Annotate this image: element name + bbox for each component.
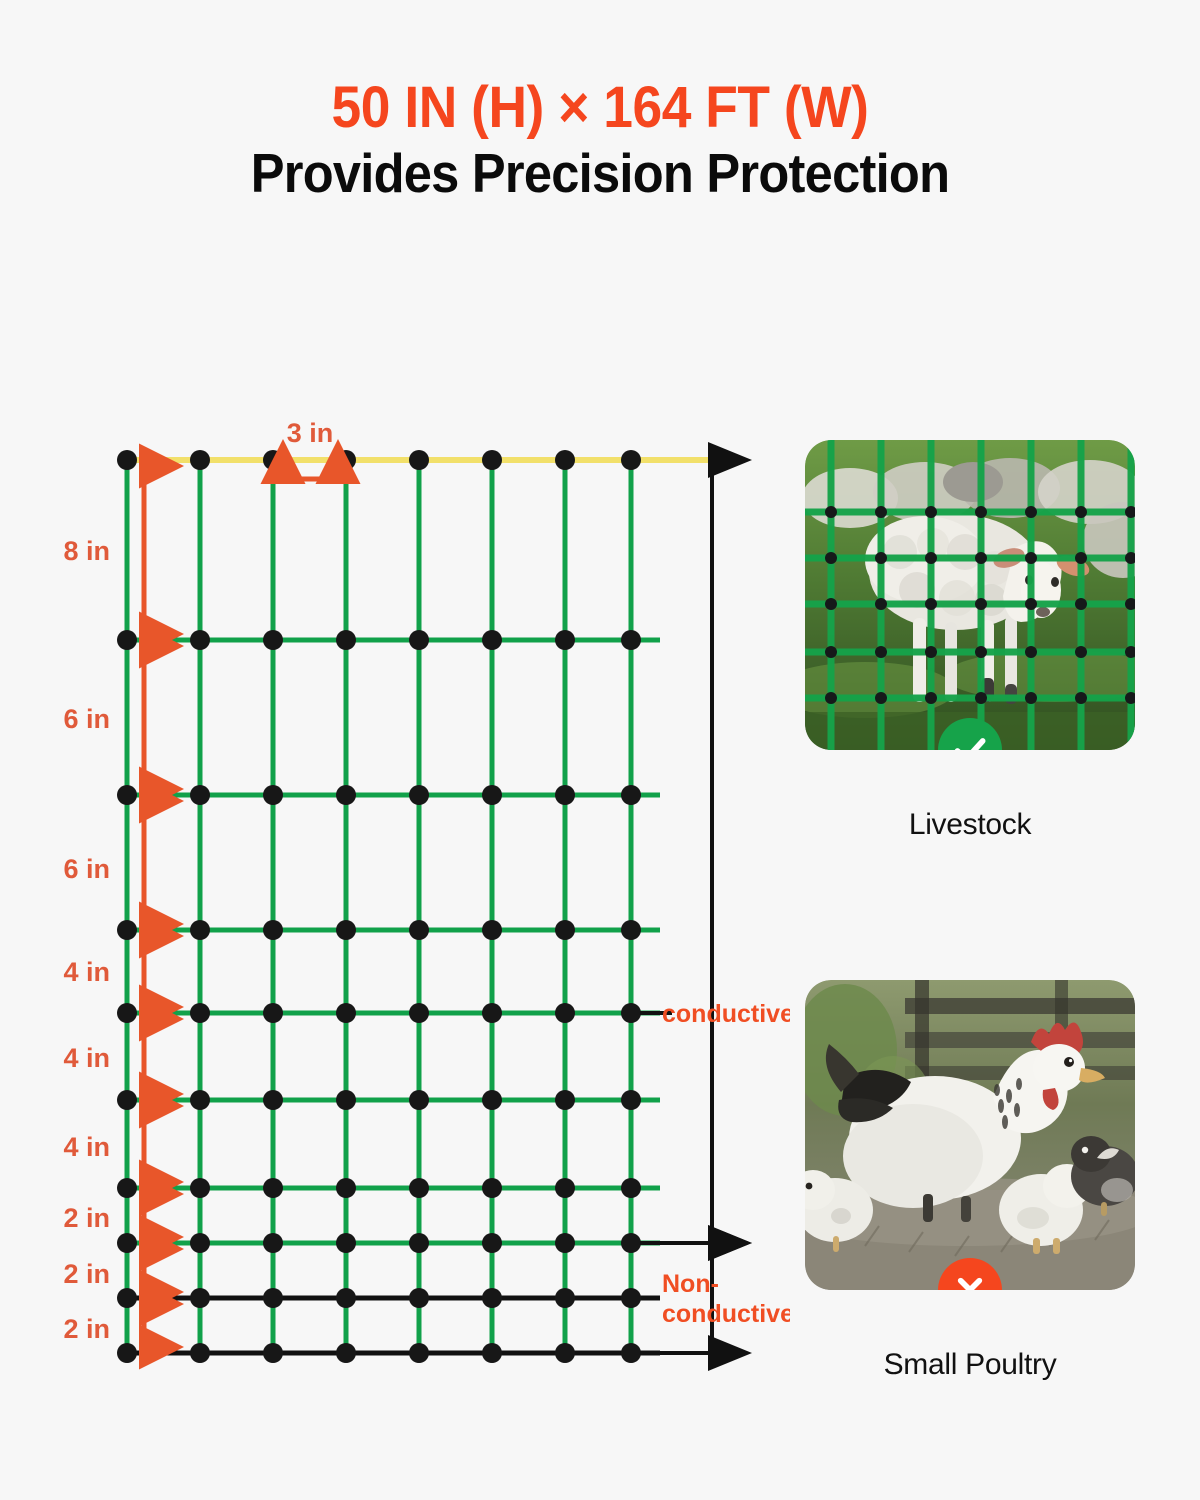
conductive-indicator: conductive <box>640 460 790 1243</box>
dim-label-3in: 3 in <box>287 418 334 448</box>
poultry-photo <box>805 980 1135 1290</box>
dim-label-4in-b: 4 in <box>63 1043 110 1073</box>
fence-spec-diagram: 3 in 8 in 6 in 6 in 4 in 4 in 4 in 2 in … <box>0 0 790 1500</box>
mesh-nodes <box>117 450 641 1363</box>
card-livestock[interactable]: Livestock <box>805 440 1135 842</box>
dim-label-4in-a: 4 in <box>63 957 110 987</box>
conductive-label: conductive <box>662 1000 790 1028</box>
check-icon <box>950 730 990 750</box>
card-poultry[interactable]: Small Poultry <box>805 980 1135 1382</box>
non-conductive-label-line1: Non- <box>662 1270 719 1298</box>
dim-label-2in-c: 2 in <box>63 1314 110 1344</box>
dimension-labels-vertical: 8 in 6 in 6 in 4 in 4 in 4 in 2 in 2 in … <box>63 536 110 1344</box>
livestock-photo <box>805 440 1135 750</box>
non-conductive-label-line2: conductive <box>662 1300 790 1328</box>
non-conductive-indicator: Non- conductive <box>640 1243 790 1353</box>
sheep-photo-illustration <box>805 440 1135 750</box>
dimension-horizontal-3in: 3 in <box>283 418 338 479</box>
dim-label-8in: 8 in <box>63 536 110 566</box>
livestock-label: Livestock <box>805 808 1135 842</box>
poultry-label: Small Poultry <box>805 1348 1135 1382</box>
wires-conductive <box>125 640 660 1243</box>
dim-label-4in-c: 4 in <box>63 1132 110 1162</box>
dim-label-2in-b: 2 in <box>63 1259 110 1289</box>
chicken-photo-illustration <box>805 980 1135 1290</box>
posts-vertical <box>127 460 631 1355</box>
dim-label-6in-b: 6 in <box>63 854 110 884</box>
mesh-wires <box>117 450 712 1363</box>
cross-icon <box>950 1270 990 1290</box>
dim-label-2in-a: 2 in <box>63 1203 110 1233</box>
dim-label-6in-a: 6 in <box>63 704 110 734</box>
